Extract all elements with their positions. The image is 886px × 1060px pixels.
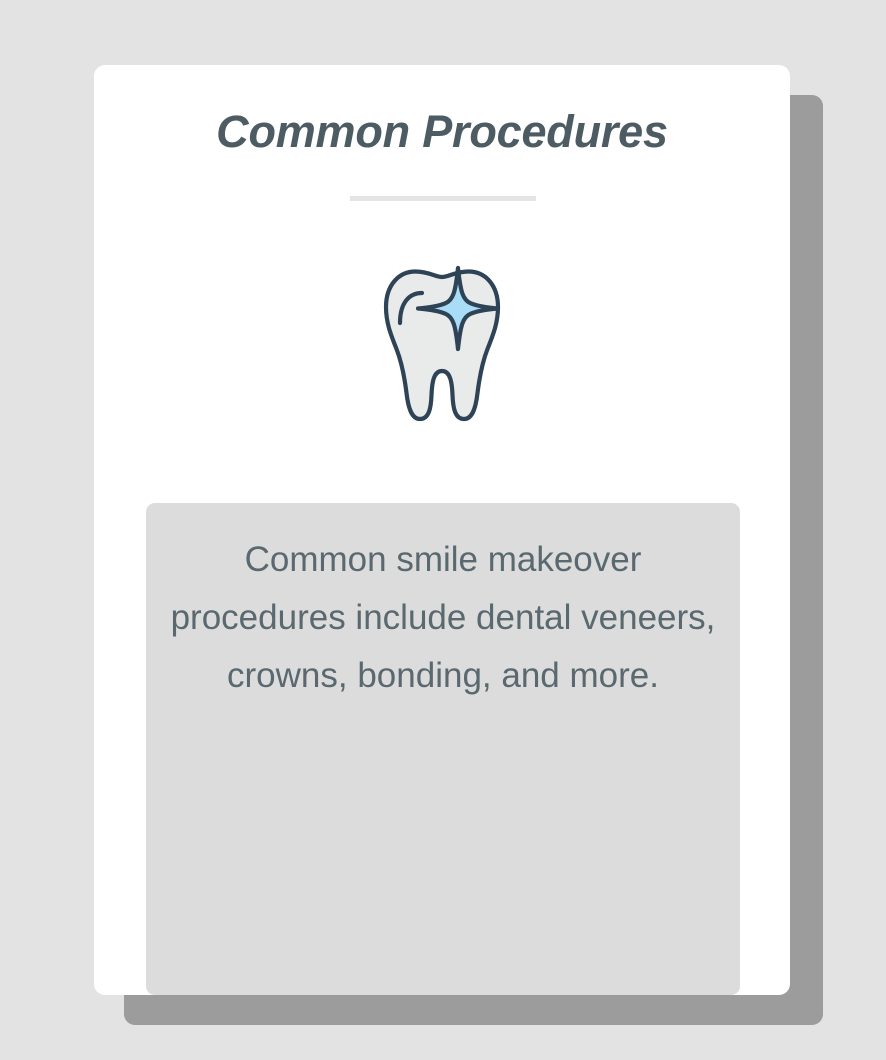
slide-canvas: Common Procedures Common smile makeover … [0, 0, 886, 1060]
page-title: Common Procedures [94, 105, 790, 159]
description-panel: Common smile makeover procedures include… [146, 503, 740, 995]
sparkling-tooth-icon [380, 265, 504, 427]
content-card: Common Procedures Common smile makeover … [94, 65, 790, 995]
title-divider [350, 196, 536, 201]
description-text: Common smile makeover procedures include… [168, 531, 718, 705]
